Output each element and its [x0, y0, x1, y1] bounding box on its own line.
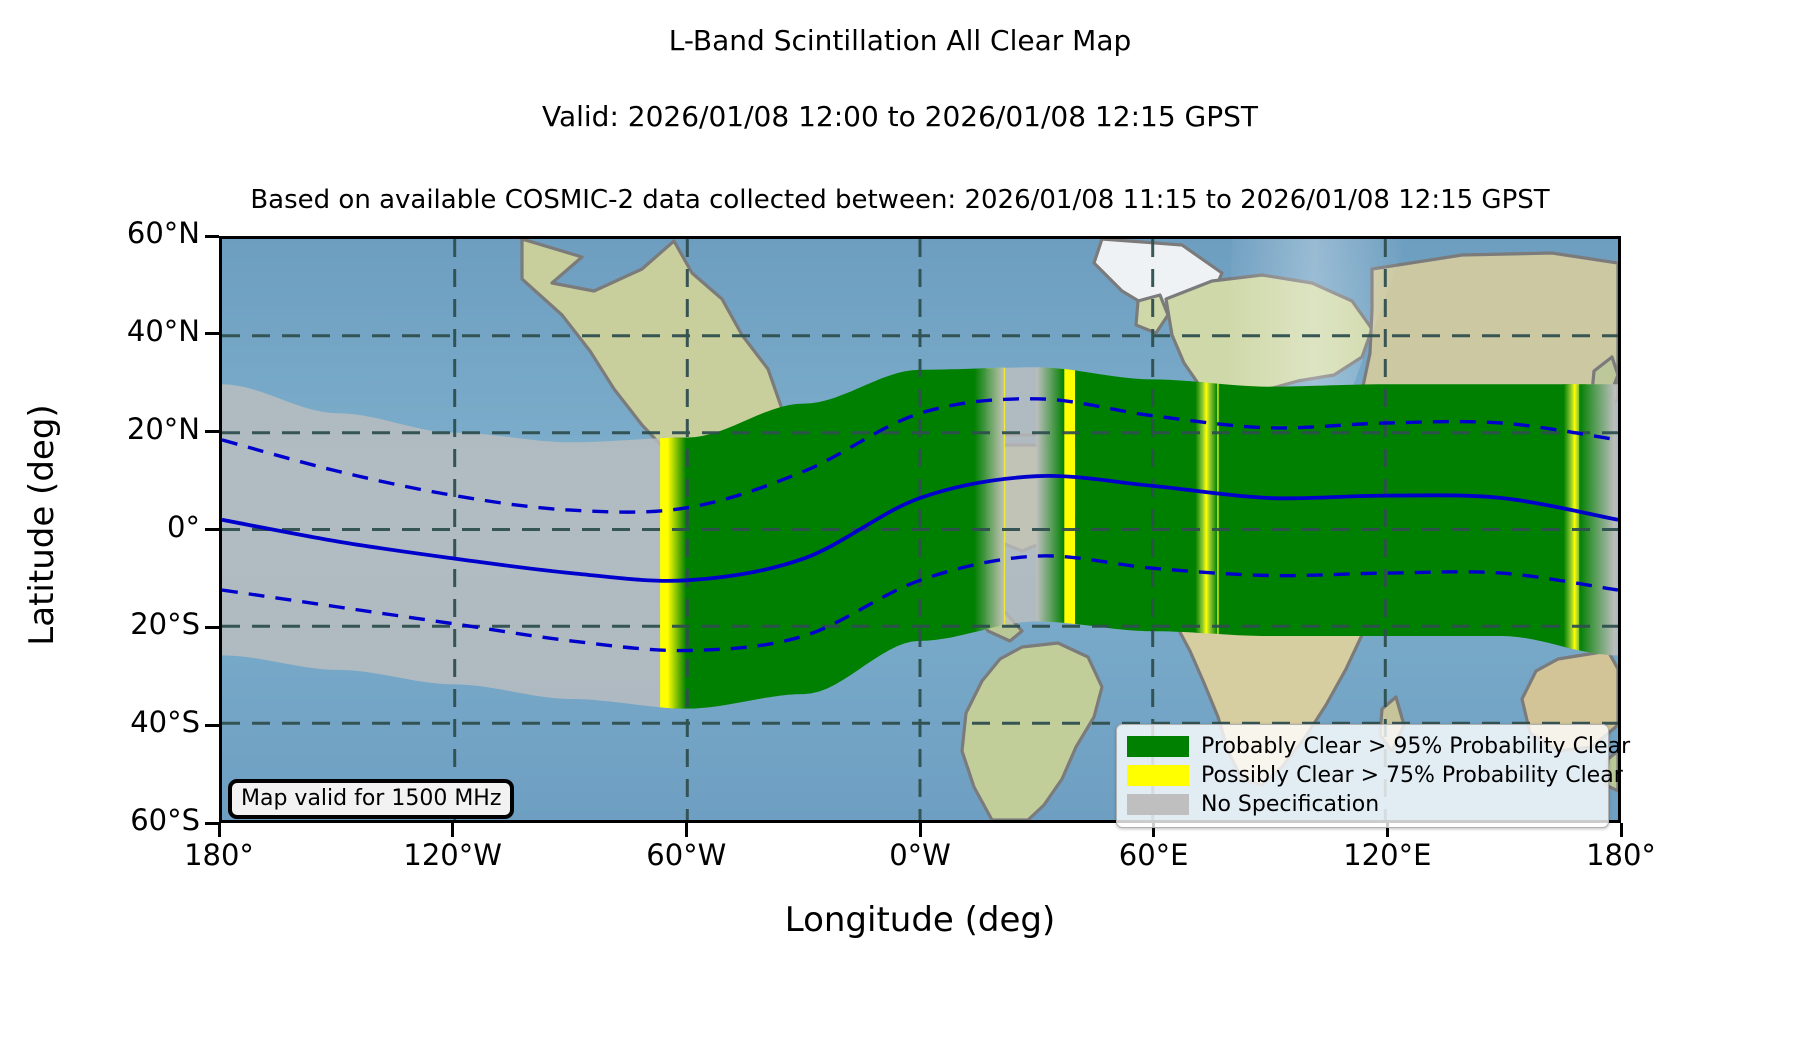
y-tick: [205, 724, 219, 727]
y-tick-label: 60°S: [20, 803, 200, 837]
x-tick-label: 0°W: [810, 838, 1030, 872]
y-tick: [205, 528, 219, 531]
x-tick: [451, 823, 454, 837]
y-tick-label: 20°S: [20, 607, 200, 641]
y-tick: [205, 626, 219, 629]
x-tick: [919, 823, 922, 837]
x-tick: [218, 823, 221, 837]
legend-item[interactable]: Possibly Clear > 75% Probability Clear: [1127, 761, 1598, 790]
data-source-note: Based on available COSMIC-2 data collect…: [0, 185, 1800, 215]
legend-label: Possibly Clear > 75% Probability Clear: [1201, 763, 1623, 788]
x-axis-label: Longitude (deg): [219, 900, 1621, 940]
y-tick-label: 0°: [20, 510, 200, 544]
page-title: L-Band Scintillation All Clear Map: [0, 24, 1800, 57]
legend-swatch-probably-clear: [1127, 736, 1189, 757]
x-tick-label: 60°E: [1044, 838, 1264, 872]
y-tick: [205, 430, 219, 433]
y-tick-label: 60°N: [20, 216, 200, 250]
legend-item[interactable]: No Specification: [1127, 790, 1598, 819]
x-tick: [685, 823, 688, 837]
x-tick: [1620, 823, 1623, 837]
legend-swatch-no-specification: [1127, 794, 1189, 815]
legend-label: Probably Clear > 95% Probability Clear: [1201, 734, 1630, 759]
map-legend: Probably Clear > 95% Probability Clear P…: [1116, 724, 1609, 828]
legend-swatch-possibly-clear: [1127, 765, 1189, 786]
y-tick-label: 40°S: [20, 705, 200, 739]
y-tick-label: 40°N: [20, 314, 200, 348]
legend-label: No Specification: [1201, 792, 1379, 817]
y-tick: [205, 235, 219, 238]
x-tick-label: 180°: [1511, 838, 1731, 872]
legend-item[interactable]: Probably Clear > 95% Probability Clear: [1127, 732, 1598, 761]
x-tick-label: 120°W: [343, 838, 563, 872]
x-tick-label: 60°W: [576, 838, 796, 872]
x-tick-label: 180°: [109, 838, 329, 872]
valid-time-label: Valid: 2026/01/08 12:00 to 2026/01/08 12…: [0, 100, 1800, 133]
frequency-annotation: Map valid for 1500 MHz: [228, 779, 514, 819]
figure-canvas: L-Band Scintillation All Clear Map Valid…: [0, 0, 1800, 1050]
x-tick-label: 120°E: [1277, 838, 1497, 872]
y-tick-label: 20°N: [20, 412, 200, 446]
y-tick: [205, 332, 219, 335]
